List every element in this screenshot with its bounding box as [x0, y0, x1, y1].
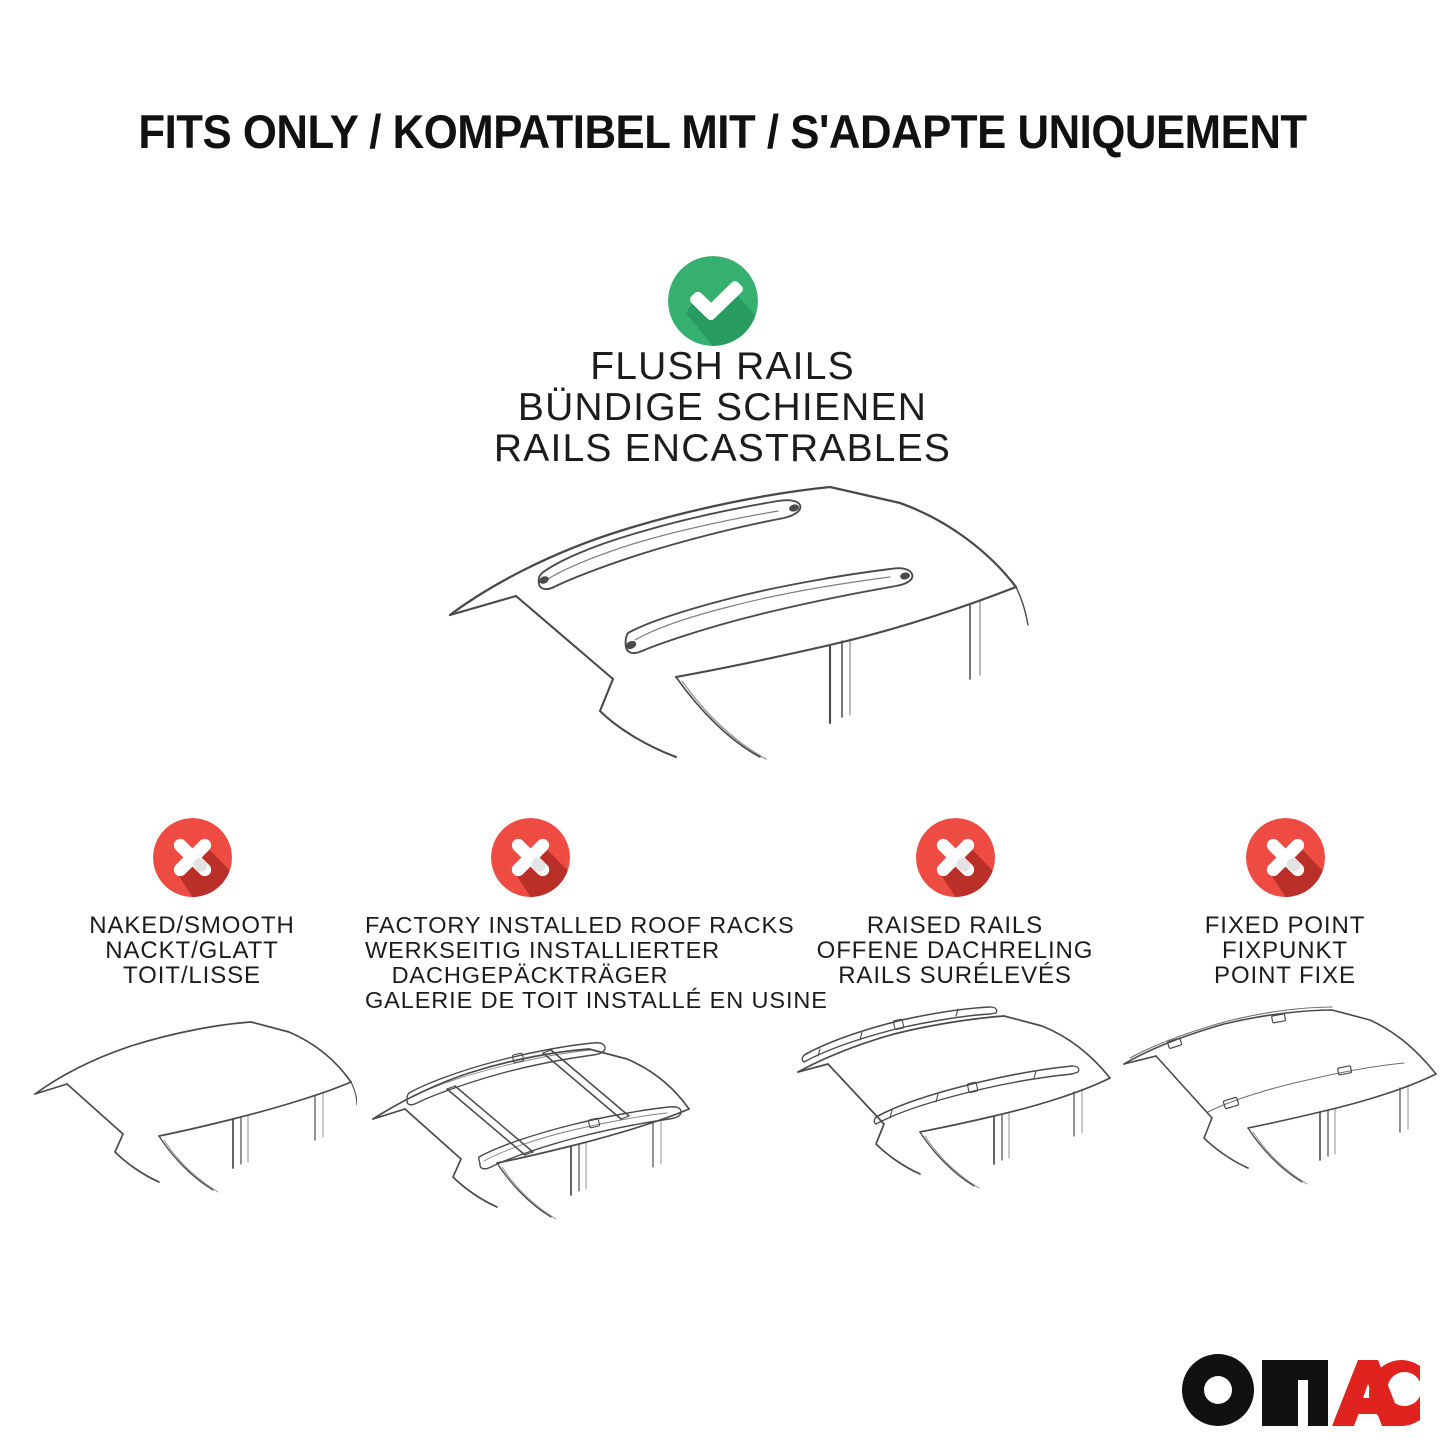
compatible-line-3: RAILS ENCASTRABLES [0, 428, 1445, 469]
incompatible-option-factory-roof-racks: FACTORY INSTALLED ROOF RACKS WERKSEITIG … [365, 818, 695, 1242]
car-roof-fixed-point-illustration [1120, 1002, 1445, 1217]
compatible-line-1: FLUSH RAILS [0, 346, 1445, 387]
page-title: FITS ONLY / KOMPATIBEL MIT / S'ADAPTE UN… [51, 104, 1395, 159]
incompatible-option-naked-smooth: NAKED/SMOOTH NACKT/GLATT TOIT/LISSE [27, 818, 357, 1217]
car-roof-raised-rails-illustration [790, 1002, 1120, 1217]
caption-line-4: GALERIE DE TOIT INSTALLÉ EN USINE [365, 988, 695, 1013]
caption-line-2: WERKSEITIG INSTALLIERTER [365, 938, 695, 963]
x-circle-icon [1246, 818, 1325, 897]
caption-line-1: NAKED/SMOOTH [27, 913, 357, 938]
option-caption: FACTORY INSTALLED ROOF RACKS WERKSEITIG … [365, 913, 695, 1013]
caption-line-3: TOIT/LISSE [27, 963, 357, 988]
car-roof-naked-smooth-illustration [27, 1002, 357, 1217]
caption-line-1: RAISED RAILS [790, 913, 1120, 938]
caption-line-3: RAILS SURÉLEVÉS [790, 963, 1120, 988]
option-caption: FIXED POINT FIXPUNKT POINT FIXE [1120, 913, 1445, 988]
caption-line-2: FIXPUNKT [1120, 938, 1445, 963]
caption-line-2: OFFENE DACHRELING [790, 938, 1120, 963]
caption-line-1: FACTORY INSTALLED ROOF RACKS [365, 913, 695, 938]
car-roof-with-flush-rails-illustration [430, 465, 1030, 775]
incompatible-option-fixed-point: FIXED POINT FIXPUNKT POINT FIXE [1120, 818, 1445, 1217]
x-circle-icon [491, 818, 570, 897]
caption-line-2: NACKT/GLATT [27, 938, 357, 963]
caption-line-3: POINT FIXE [1120, 963, 1445, 988]
compatible-line-2: BÜNDIGE SCHIENEN [0, 387, 1445, 428]
caption-line-3: DACHGEPÄCKTRÄGER [365, 963, 695, 988]
car-roof-factory-installed-roof-racks-illustration [365, 1027, 695, 1242]
caption-line-1: FIXED POINT [1120, 913, 1445, 938]
omac-logo [1180, 1352, 1420, 1426]
x-circle-icon [916, 818, 995, 897]
compatible-caption: FLUSH RAILS BÜNDIGE SCHIENEN RAILS ENCAS… [0, 346, 1445, 469]
x-circle-icon [153, 818, 232, 897]
incompatible-option-raised-rails: RAISED RAILS OFFENE DACHRELING RAILS SUR… [790, 818, 1120, 1217]
check-circle-icon [668, 256, 758, 346]
option-caption: RAISED RAILS OFFENE DACHRELING RAILS SUR… [790, 913, 1120, 988]
option-caption: NAKED/SMOOTH NACKT/GLATT TOIT/LISSE [27, 913, 357, 988]
